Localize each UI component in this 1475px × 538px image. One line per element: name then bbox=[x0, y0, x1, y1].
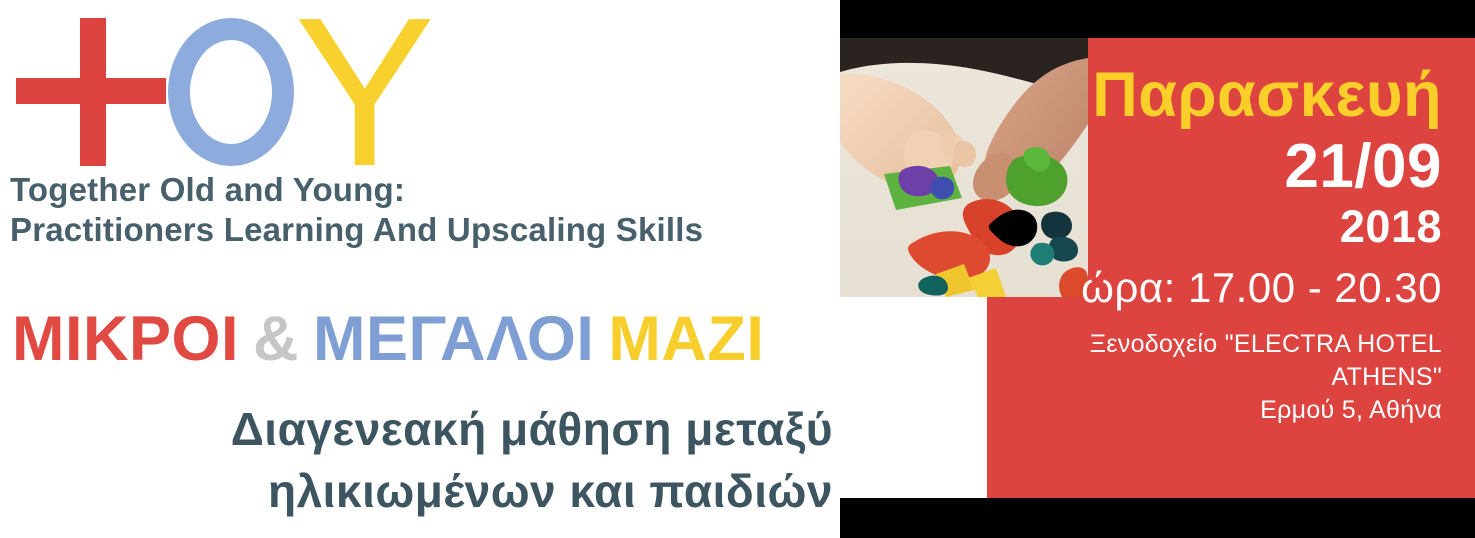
event-year: 2018 bbox=[1000, 202, 1442, 252]
event-venue: Ξενοδοχείο "ELECTRA HOTEL ATHENS" bbox=[1000, 328, 1442, 394]
greek-headline: ΜΙΚΡΟΙ&ΜΕΓΑΛΟΙΜΑΖΙ bbox=[12, 306, 764, 372]
greek-subtitle: Διαγενεακή μάθηση μεταξύ ηλικιωμένων και… bbox=[0, 398, 845, 522]
headline-ampersand: & bbox=[253, 304, 299, 374]
headline-word-mikroi: ΜΙΚΡΟΙ bbox=[12, 304, 239, 374]
headline-word-mazi: ΜΑΖΙ bbox=[608, 304, 764, 374]
left-content-column: Y Together Old and Young: Practitioners … bbox=[0, 0, 845, 538]
toy-project-logo: Y bbox=[8, 10, 428, 165]
tagline-line-1: Together Old and Young: bbox=[10, 170, 703, 210]
subtitle-line-1: Διαγενεακή μάθηση μεταξύ bbox=[0, 398, 833, 460]
event-date: 21/09 bbox=[1000, 132, 1442, 202]
event-day: Παρασκευή bbox=[1000, 60, 1442, 130]
logo-letter-o-icon bbox=[168, 18, 294, 166]
bottom-black-band bbox=[840, 498, 1475, 538]
top-black-band bbox=[840, 0, 1475, 38]
headline-word-megaloi: ΜΕΓΑΛΟΙ bbox=[313, 304, 594, 374]
subtitle-line-2: ηλικιωμένων και παιδιών bbox=[0, 460, 833, 522]
poster-canvas: Y Together Old and Young: Practitioners … bbox=[0, 0, 1475, 538]
logo-letter-y: Y bbox=[294, 12, 434, 172]
event-details-block: Παρασκευή 21/09 2018 ώρα: 17.00 - 20.30 … bbox=[1000, 60, 1460, 427]
event-time: ώρα: 17.00 - 20.30 bbox=[1000, 262, 1442, 314]
logo-plus-icon-horizontal bbox=[16, 78, 166, 104]
event-address: Ερμού 5, Αθήνα bbox=[1000, 394, 1442, 427]
project-tagline: Together Old and Young: Practitioners Le… bbox=[10, 170, 703, 250]
tagline-line-2: Practitioners Learning And Upscaling Ski… bbox=[10, 210, 703, 250]
